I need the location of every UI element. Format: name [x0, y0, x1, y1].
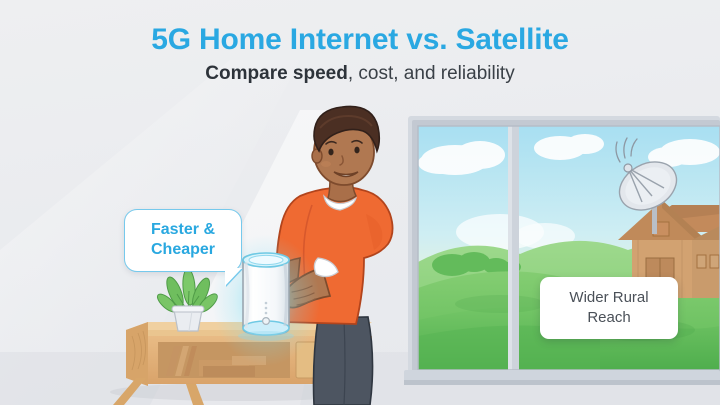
router-status-leds: [265, 302, 268, 315]
plant-pot: [172, 306, 204, 331]
router-power-button[interactable]: [263, 318, 270, 325]
callout-faster-cheaper: Faster & Cheaper: [124, 209, 242, 272]
callout-wider-rural-reach: Wider Rural Reach: [540, 277, 678, 339]
callout-right-line2: Reach: [549, 308, 669, 328]
window-mullions: [508, 126, 519, 370]
subtitle-rest: , cost, and reliability: [348, 63, 515, 84]
subtitle-bold: Compare speed: [205, 63, 348, 84]
callout-left-line2: Cheaper: [133, 240, 233, 260]
callout-right-line1: Wider Rural: [549, 288, 669, 308]
callout-left-tail: [225, 268, 242, 286]
header-block: 5G Home Internet vs. Satellite Compare s…: [0, 24, 720, 84]
page-title: 5G Home Internet vs. Satellite: [0, 24, 720, 56]
window: [404, 116, 720, 385]
page-subtitle: Compare speed, cost, and reliability: [0, 64, 720, 85]
callout-left-line1: Faster &: [133, 220, 233, 240]
illustration-canvas: 5G Home Internet vs. Satellite Compare s…: [0, 0, 720, 405]
